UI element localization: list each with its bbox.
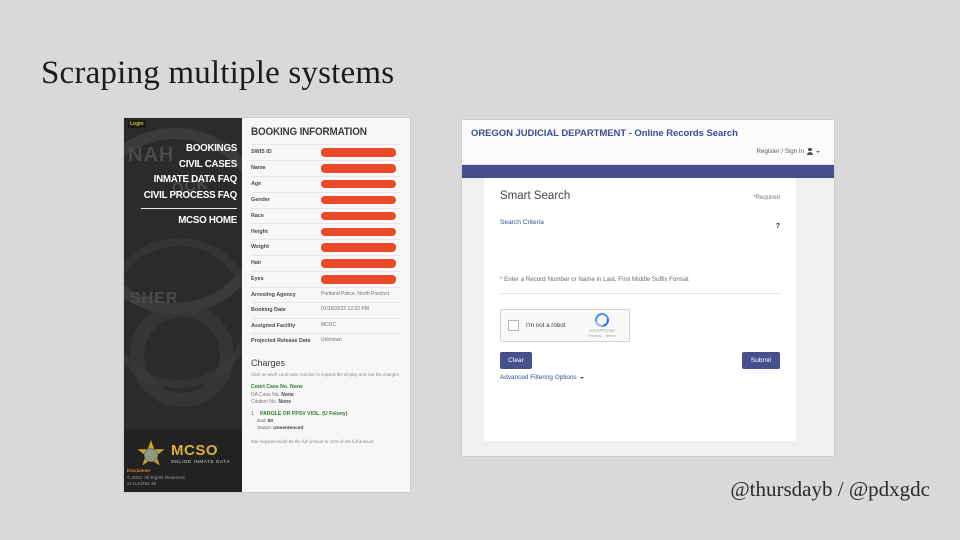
court-case-number[interactable]: Court Case No. None [251, 384, 401, 391]
sidebar-item-civil-process-faq[interactable]: CIVIL PROCESS FAQ [137, 188, 237, 204]
field-value: MCDC [321, 322, 401, 329]
field-label: Height [251, 228, 321, 236]
mcso-screenshot: NAH OCK SHER Login BOOKINGS CIVIL CASES … [124, 118, 410, 492]
field-label: Assigned Facility [251, 322, 321, 330]
status-value: Unsentenced [273, 426, 303, 431]
redaction-bar [321, 212, 396, 221]
charge-index: 1. [251, 411, 260, 419]
ojd-header-title: OREGON JUDICIAL DEPARTMENT - Online Reco… [471, 128, 738, 139]
recaptcha-branding: reCAPTCHA Privacy - Terms [582, 313, 622, 338]
citation-label: Citation No. [251, 399, 279, 405]
charge-bail: Bail: $0 [257, 418, 401, 425]
mcso-brand: MCSO [171, 442, 218, 459]
recaptcha-label: I'm not a robot [526, 322, 565, 329]
redaction-bar [321, 148, 396, 157]
submit-button[interactable]: Submit [742, 352, 780, 369]
ojd-screenshot: OREGON JUDICIAL DEPARTMENT - Online Reco… [462, 120, 834, 456]
field-value: 01/16/2022 12:22 PM [321, 306, 401, 313]
da-case-number: DA Case No. None [251, 392, 401, 399]
register-sign-in-label: Register / Sign In [757, 148, 804, 155]
clear-button[interactable]: Clear [500, 352, 532, 369]
table-row: Height [251, 223, 401, 239]
redaction-bar [321, 164, 396, 173]
field-label: Gender [251, 196, 321, 204]
recaptcha-checkbox[interactable] [508, 320, 519, 331]
field-label: Weight [251, 243, 321, 251]
redaction-bar [321, 275, 396, 284]
smart-search-title: Smart Search [500, 190, 570, 202]
chevron-down-icon [816, 151, 820, 153]
table-row: Assigned Facility MCDC [251, 318, 401, 333]
citation-value: None [279, 399, 292, 405]
required-note: *Required [753, 195, 780, 201]
booking-information-panel: BOOKING INFORMATION SWIS ID Name Age Gen… [242, 118, 410, 492]
field-label: Booking Date [251, 306, 321, 314]
ojd-navigation-bar [462, 165, 834, 178]
field-label: Age [251, 180, 321, 188]
field-value-redacted [321, 243, 401, 252]
version-text: v1.0.44454.36 [127, 481, 156, 486]
login-link[interactable]: Login [128, 120, 146, 128]
field-value-redacted [321, 259, 401, 268]
da-case-label: DA Case No. [251, 392, 281, 398]
smart-search-header: Smart Search *Required [500, 190, 780, 202]
recaptcha-icon [595, 313, 609, 327]
table-row: Name [251, 160, 401, 176]
redaction-bar [321, 180, 396, 189]
table-row: Booking Date 01/16/2022 12:22 PM [251, 302, 401, 317]
table-row: Race [251, 208, 401, 224]
booking-information-heading: BOOKING INFORMATION [251, 126, 386, 138]
chevron-down-icon [580, 377, 584, 379]
field-value-redacted [321, 275, 401, 284]
charge-title: PAROLE OR PPSV VIOL. (U Felony) [260, 411, 348, 419]
search-criteria-row: Search Criteria ? [500, 219, 780, 230]
mcso-tagline: ONLINE INMATE DATA [171, 459, 230, 464]
field-label: Name [251, 164, 321, 172]
register-sign-in-link[interactable]: Register / Sign In [757, 148, 820, 155]
copyright-text: © 2022. All Rights Reserved. [127, 475, 186, 480]
redaction-bar [321, 259, 396, 268]
redaction-bar [321, 243, 396, 252]
watermark-text-sher: SHER [130, 290, 178, 308]
field-value: Portland Police, North Precinct [321, 291, 401, 298]
nav-divider [141, 208, 237, 209]
da-case-value: None [281, 392, 294, 398]
badge-watermark-ring-inner [130, 303, 234, 407]
field-label: Eyes [251, 275, 321, 283]
field-label: Projected Release Date [251, 337, 321, 345]
redaction-bar [321, 228, 396, 237]
bail-label: Bail: [257, 419, 268, 424]
attribution-text: @thursdayb / @pdxgdc [730, 477, 930, 502]
charges-heading: Charges [251, 358, 401, 368]
table-row: Eyes [251, 271, 401, 287]
table-row: Gender [251, 192, 401, 208]
list-item: 1. PAROLE OR PPSV VIOL. (U Felony) [251, 411, 401, 419]
sheriff-badge-icon [136, 440, 166, 470]
advanced-filtering-options-link[interactable]: Advanced Filtering Options [500, 374, 584, 381]
field-value: Unknown [321, 337, 401, 344]
sidebar-item-mcso-home[interactable]: MCSO HOME [137, 213, 237, 229]
bail-disclaimer: Bail required could be the full amount o… [251, 439, 401, 445]
sidebar-item-civil-cases[interactable]: CIVIL CASES [137, 157, 237, 173]
recaptcha-terms[interactable]: Privacy - Terms [582, 333, 622, 338]
charge-status: Status: Unsentenced [257, 425, 401, 432]
disclaimer-link[interactable]: Disclaimer [127, 468, 150, 473]
field-label: Hair [251, 259, 321, 267]
field-value-redacted [321, 196, 401, 205]
charges-note: Click on each court case number to expan… [251, 372, 401, 378]
field-value-redacted [321, 148, 401, 157]
advanced-filtering-label: Advanced Filtering Options [500, 374, 577, 381]
smart-search-panel: Smart Search *Required Search Criteria ?… [484, 178, 796, 441]
field-value-redacted [321, 228, 401, 237]
person-icon [807, 148, 813, 155]
field-value-redacted [321, 212, 401, 221]
field-label: Arresting Agency [251, 291, 321, 299]
bail-value: $0 [268, 419, 273, 424]
field-label: Race [251, 212, 321, 220]
table-row: SWIS ID [251, 144, 401, 160]
recaptcha-widget[interactable]: I'm not a robot reCAPTCHA Privacy - Term… [500, 309, 630, 342]
field-value-redacted [321, 164, 401, 173]
mcso-nav: BOOKINGS CIVIL CASES INMATE DATA FAQ CIV… [129, 141, 237, 229]
sidebar-item-bookings[interactable]: BOOKINGS [137, 141, 237, 157]
redaction-bar [321, 196, 396, 205]
search-criteria-link[interactable]: Search Criteria [500, 219, 544, 226]
page-title: Scraping multiple systems [41, 55, 394, 92]
table-row: Projected Release Date Unknown [251, 333, 401, 348]
table-row: Age [251, 176, 401, 192]
table-row: Arresting Agency Portland Police, North … [251, 287, 401, 302]
status-label: Status: [257, 426, 273, 431]
table-row: Hair [251, 255, 401, 271]
field-value-redacted [321, 180, 401, 189]
help-icon[interactable]: ? [776, 223, 780, 230]
citation-number: Citation No. None [251, 399, 401, 406]
format-hint: * Enter a Record Number or Name in Last,… [500, 276, 782, 294]
mcso-sidebar: NAH OCK SHER Login BOOKINGS CIVIL CASES … [124, 118, 242, 492]
table-row: Weight [251, 239, 401, 255]
ojd-header: OREGON JUDICIAL DEPARTMENT - Online Reco… [462, 120, 834, 165]
field-label: SWIS ID [251, 148, 321, 156]
sidebar-item-inmate-data-faq[interactable]: INMATE DATA FAQ [137, 172, 237, 188]
mcso-footer: MCSO ONLINE INMATE DATA Disclaimer © 202… [124, 430, 242, 492]
